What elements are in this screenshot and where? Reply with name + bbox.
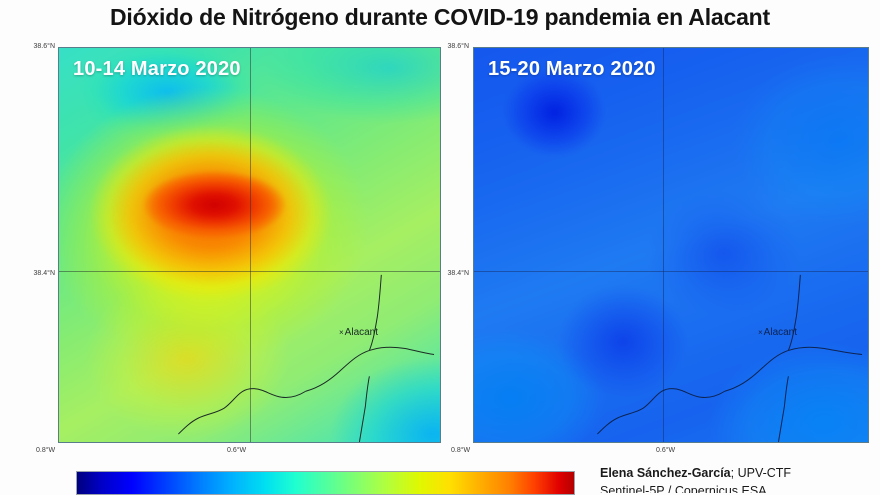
map-panel-right[interactable]: 15-20 Marzo 2020 ×Alacant bbox=[473, 47, 869, 443]
x-tick-left-second: 0.6°W bbox=[227, 447, 246, 454]
colorbar bbox=[76, 471, 575, 495]
map-panel-left[interactable]: 10-14 Marzo 2020 ×Alacant bbox=[58, 47, 441, 443]
page-title: Dióxido de Nitrógeno durante COVID-19 pa… bbox=[0, 4, 880, 31]
graticule-horizontal-left bbox=[59, 271, 440, 272]
colorbar-gradient bbox=[76, 471, 575, 495]
graticule-horizontal-right bbox=[474, 271, 868, 272]
credit-line-1: Elena Sánchez-García; UPV-CTF bbox=[600, 464, 878, 482]
graticule-vertical-right bbox=[663, 48, 664, 442]
x-tick-right-second: 0.6°W bbox=[656, 447, 675, 454]
x-tick-left-first: 0.8°W bbox=[36, 447, 55, 454]
credit-separator: ; bbox=[731, 466, 738, 480]
credit-author: Elena Sánchez-García bbox=[600, 466, 731, 480]
y-tick-left-top: 38.6°N bbox=[20, 43, 55, 50]
map-canvas-right: 15-20 Marzo 2020 ×Alacant bbox=[474, 48, 868, 442]
y-tick-right-top: 38.6°N bbox=[434, 43, 469, 50]
panel-caption-right: 15-20 Marzo 2020 bbox=[488, 58, 656, 81]
credit-line-2: Sentinel-5P / Copernicus ESA bbox=[600, 482, 878, 493]
graticule-vertical-left bbox=[250, 48, 251, 442]
no2-field-right bbox=[474, 48, 868, 442]
map-canvas-left: 10-14 Marzo 2020 ×Alacant bbox=[59, 48, 440, 442]
x-tick-right-first: 0.8°W bbox=[451, 447, 470, 454]
y-tick-right-bottom: 38.4°N bbox=[434, 270, 469, 277]
y-tick-left-bottom: 38.4°N bbox=[20, 270, 55, 277]
panel-caption-left: 10-14 Marzo 2020 bbox=[73, 58, 241, 81]
credit-affiliation: UPV-CTF bbox=[738, 466, 791, 480]
credit-block: Elena Sánchez-García; UPV-CTF Sentinel-5… bbox=[600, 464, 878, 493]
